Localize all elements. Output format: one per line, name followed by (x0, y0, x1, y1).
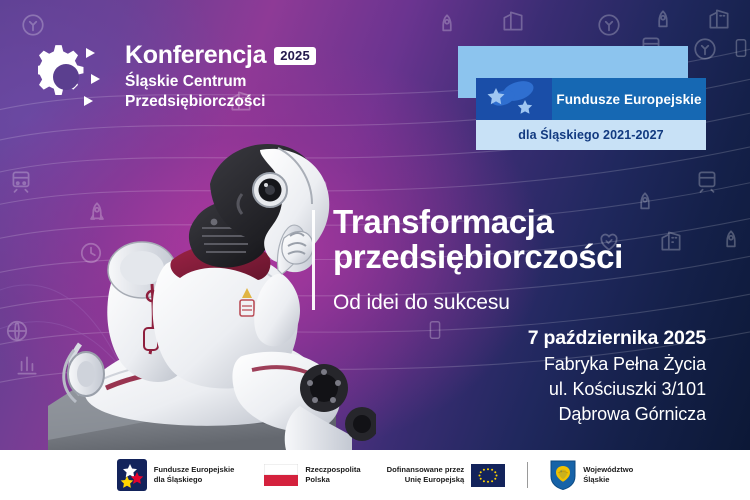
conference-poster: Konferencja 2025 Śląskie Centrum Przedsi… (0, 0, 750, 500)
rocket-icon (718, 228, 744, 254)
poland-flag-icon (264, 464, 298, 486)
voivodeship-logo-text: Województwo Śląskie (583, 465, 633, 484)
tree-icon (20, 12, 46, 38)
logo-subtitle-line2: Przedsiębiorczości (125, 92, 316, 112)
voi-footer-line1: Województwo (583, 465, 633, 475)
poster-title-line2: przedsiębiorczości (333, 239, 663, 274)
silesian-voivodeship-coat-of-arms-icon (550, 460, 576, 490)
tram-icon (8, 168, 34, 194)
pl-footer-line1: Rzeczpospolita (305, 465, 360, 475)
headline-divider (312, 210, 315, 310)
event-street: ul. Kościuszki 3/101 (528, 379, 706, 400)
logo-subtitle: Śląskie Centrum Przedsiębiorczości (125, 72, 316, 111)
fundusze-europejskie-logo-icon (117, 459, 147, 491)
voi-footer-line2: Śląskie (583, 475, 633, 485)
voivodeship-logo-item: Województwo Śląskie (550, 460, 633, 490)
gear-logo-icon (38, 40, 112, 112)
footer-divider (527, 462, 528, 488)
fe-footer-line1: Fundusze Europejskie (154, 465, 235, 475)
tram-icon (694, 168, 720, 194)
poster-title-line1: Transformacja (333, 204, 663, 239)
conference-logo-text: Konferencja 2025 Śląskie Centrum Przedsi… (125, 40, 316, 111)
factory-building-icon (500, 8, 526, 34)
rocket-icon (434, 12, 460, 38)
poster-artwork: Konferencja 2025 Śląskie Centrum Przedsi… (0, 0, 750, 450)
eu-footer-line1: Dofinansowane przez (387, 465, 465, 475)
smartphone-icon (424, 318, 446, 342)
fundusze-europejskie-badge: Fundusze Europejskie dla Śląskiego 2021-… (458, 46, 688, 98)
globe-icon (4, 318, 30, 344)
logo-subtitle-line1: Śląskie Centrum (125, 72, 316, 92)
event-date: 7 października 2025 (528, 327, 706, 350)
rocket-icon (650, 8, 676, 34)
headline-block: Transformacja przedsiębiorczości Od idei… (333, 204, 663, 315)
european-union-flag-icon (471, 464, 505, 487)
poster-subtitle: Od idei do sukcesu (333, 291, 663, 315)
badge-sublabel: dla Śląskiego 2021-2027 (476, 120, 706, 150)
logo-year-badge: 2025 (274, 47, 316, 65)
poland-logo-text: Rzeczpospolita Polska (305, 465, 360, 484)
pl-footer-line2: Polska (305, 475, 360, 485)
eu-funds-stars-icon (476, 78, 552, 120)
event-details: 7 października 2025 Fabryka Pełna Życia … (528, 327, 706, 425)
smartphone-icon (730, 36, 750, 60)
funding-logo-strip: Fundusze Europejskie dla Śląskiego Rzecz… (0, 450, 750, 500)
event-city: Dąbrowa Górnicza (528, 404, 706, 425)
eu-cofinanced-text: Dofinansowane przez Unię Europejską (387, 465, 465, 484)
poster-title: Transformacja przedsiębiorczości (333, 204, 663, 275)
tree-icon (692, 36, 718, 62)
badge-main-row: Fundusze Europejskie (476, 78, 706, 120)
eu-footer-line2: Unię Europejską (387, 475, 465, 485)
logo-title: Konferencja (125, 43, 266, 68)
fundusze-europejskie-logo-text: Fundusze Europejskie dla Śląskiego (154, 465, 235, 484)
chart-icon (14, 352, 40, 378)
poland-logo-item: Rzeczpospolita Polska (264, 464, 360, 486)
factory-building-icon (706, 6, 732, 32)
event-venue: Fabryka Pełna Życia (528, 354, 706, 375)
thinking-robot-illustration (46, 88, 376, 450)
eu-cofinanced-item: Dofinansowane przez Unię Europejską (387, 464, 506, 487)
fundusze-europejskie-logo-item: Fundusze Europejskie dla Śląskiego (117, 459, 235, 491)
badge-label: Fundusze Europejskie (552, 78, 706, 120)
fe-footer-line2: dla Śląskiego (154, 475, 235, 485)
conference-logo: Konferencja 2025 Śląskie Centrum Przedsi… (38, 40, 316, 112)
tree-icon (596, 12, 622, 38)
